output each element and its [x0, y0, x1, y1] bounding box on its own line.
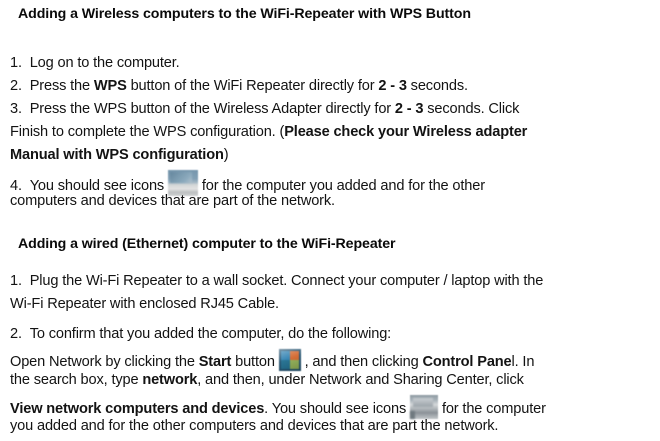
- body-line: 1. Log on to the computer.: [10, 55, 180, 71]
- body-line: 3. Press the WPS button of the Wireless …: [10, 101, 519, 117]
- body-text: the search box, type: [10, 372, 142, 388]
- body-text: Plug the Wi-Fi Repeater to a wall socket…: [30, 273, 543, 289]
- body-line: Open Network by clicking the Start butto…: [10, 349, 534, 371]
- list-number: 4.: [10, 178, 22, 194]
- body-text: Finish to complete the WPS configuration…: [10, 124, 284, 140]
- emphasis-text: Please check your Wireless adapter: [284, 124, 527, 140]
- emphasis-text: 2 - 3: [378, 78, 406, 94]
- body-line: 2. Press the WPS button of the WiFi Repe…: [10, 78, 468, 94]
- body-text: ): [224, 147, 229, 163]
- body-line: Finish to complete the WPS configuration…: [10, 124, 527, 140]
- body-line: Wi-Fi Repeater with enclosed RJ45 Cable.: [10, 296, 279, 312]
- section-heading-wired: Adding a wired (Ethernet) computer to th…: [18, 236, 395, 252]
- emphasis-text: Control Pane: [423, 354, 512, 370]
- emphasis-text: WPS: [94, 78, 127, 94]
- body-text: button of the WiFi Repeater directly for: [127, 78, 379, 94]
- list-number: 1.: [10, 273, 22, 289]
- emphasis-text: network: [142, 372, 197, 388]
- body-text: Press the: [30, 78, 94, 94]
- body-text: . You should see icons: [264, 401, 406, 417]
- section-heading-wireless: Adding a Wireless computers to the WiFi-…: [18, 6, 471, 22]
- windows-start-icon: [279, 349, 301, 371]
- body-text: for the computer you added and for the o…: [202, 178, 485, 194]
- body-text: Wi-Fi Repeater with enclosed RJ45 Cable.: [10, 296, 279, 312]
- list-number: 3.: [10, 101, 22, 117]
- body-line: 1. Plug the Wi-Fi Repeater to a wall soc…: [10, 273, 543, 289]
- body-text: You should see icons: [30, 178, 164, 194]
- document-page: Adding a Wireless computers to the WiFi-…: [0, 0, 660, 441]
- body-text: computers and devices that are part of t…: [10, 193, 335, 209]
- emphasis-text: Start: [199, 354, 232, 370]
- body-line: the search box, type network, and then, …: [10, 372, 524, 388]
- list-number: 2.: [10, 78, 22, 94]
- body-line: you added and for the other computers an…: [10, 418, 498, 434]
- body-text: l. In: [512, 354, 535, 370]
- body-line: Manual with WPS configuration): [10, 147, 228, 163]
- body-text: seconds. Click: [423, 101, 519, 117]
- body-line: 2. To confirm that you added the compute…: [10, 326, 391, 342]
- body-text: Press the WPS button of the Wireless Ada…: [30, 101, 395, 117]
- body-text: button: [231, 354, 275, 370]
- emphasis-text: 2 - 3: [395, 101, 423, 117]
- emphasis-text: View network computers and devices: [10, 401, 264, 417]
- list-number: 2.: [10, 326, 22, 342]
- network-computer-icon: [410, 395, 438, 419]
- body-text: Open Network by clicking the: [10, 354, 199, 370]
- body-text: for the computer: [442, 401, 546, 417]
- body-line: computers and devices that are part of t…: [10, 193, 335, 209]
- body-text: , and then clicking: [305, 354, 423, 370]
- body-text: Log on to the computer.: [30, 55, 180, 71]
- body-text: , and then, under Network and Sharing Ce…: [197, 372, 524, 388]
- body-text: To confirm that you added the computer, …: [30, 326, 391, 342]
- list-number: 1.: [10, 55, 22, 71]
- body-text: you added and for the other computers an…: [10, 418, 498, 434]
- body-text: seconds.: [407, 78, 468, 94]
- body-line: View network computers and devices. You …: [10, 395, 546, 419]
- emphasis-text: Manual with WPS configuration: [10, 147, 224, 163]
